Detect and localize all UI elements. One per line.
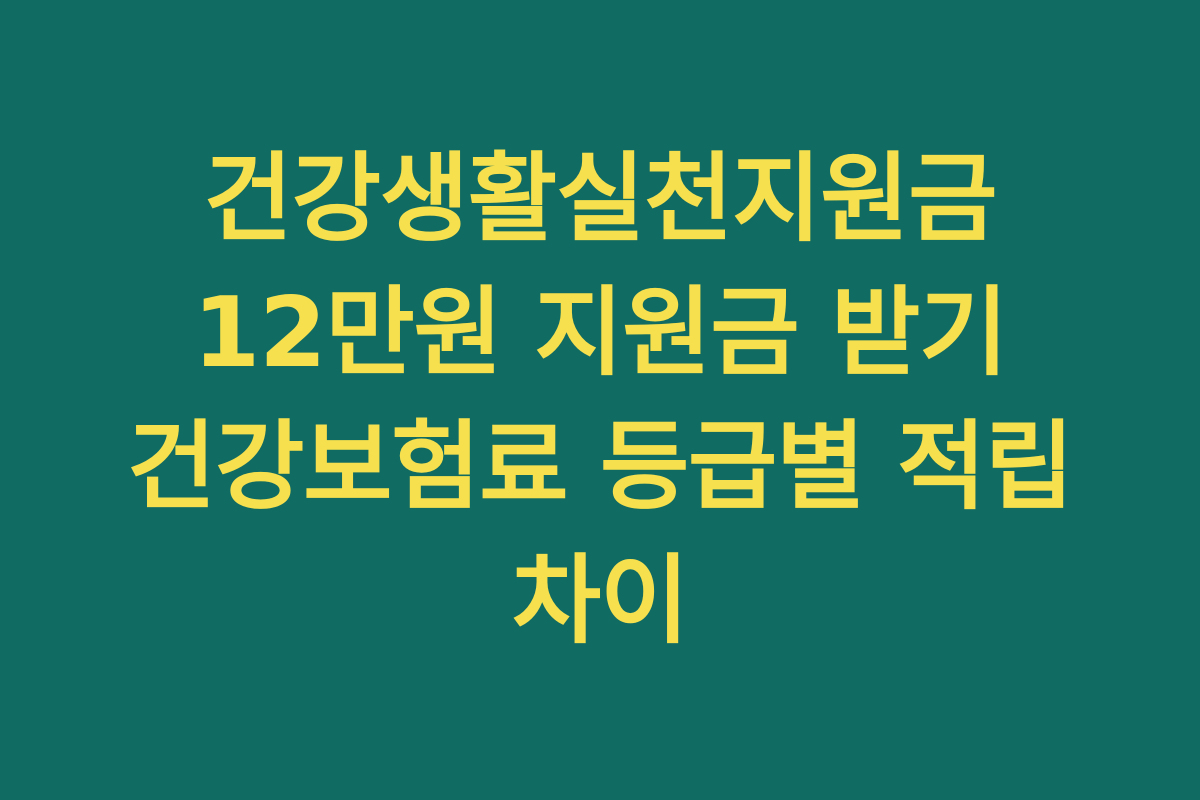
page-title: 건강생활실천지원금 12만원 지원금 받기 건강보험료 등급별 적립 차이: [70, 132, 1130, 667]
thumbnail-card: 건강생활실천지원금 12만원 지원금 받기 건강보험료 등급별 적립 차이: [0, 0, 1200, 800]
